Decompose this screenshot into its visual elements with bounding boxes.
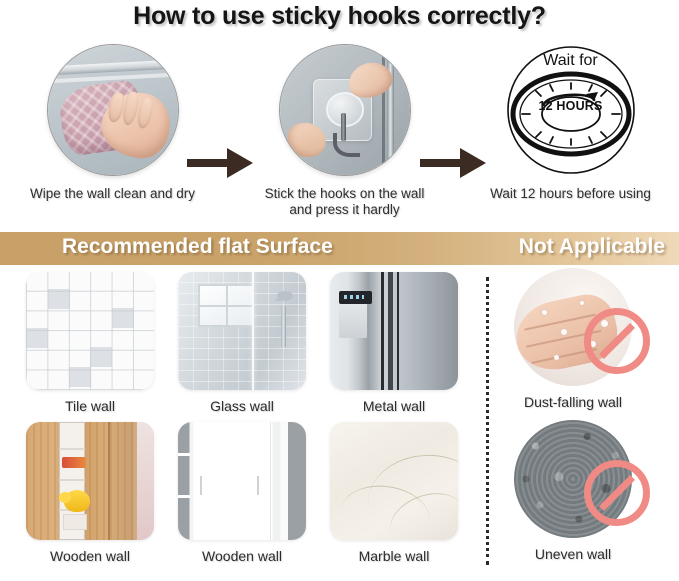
surface-card-metal-wall: Metal wall (324, 272, 464, 414)
step-3-image: Wait for 12 HOURS (498, 44, 644, 176)
wooden-wall-2-label: Wooden wall (172, 548, 312, 564)
step-2-caption: Stick the hooks on the wall and press it… (252, 186, 437, 218)
wooden-wall-1-label: Wooden wall (20, 548, 160, 564)
step-1: Wipe the wall clean and dry (20, 44, 205, 202)
arrow-right-icon-2 (418, 139, 488, 187)
surface-card-glass-wall: Glass wall (172, 272, 312, 414)
section-banner: Recommended flat Surface Not Applicable (0, 232, 679, 265)
prohibition-icon-dust (584, 308, 650, 374)
clock-wait-label: Wait for (498, 52, 644, 70)
metal-wall-image (330, 272, 458, 390)
metal-wall-label: Metal wall (324, 398, 464, 414)
wooden-wall-2-image (178, 422, 306, 540)
steps-row: Wipe the wall clean and dry Stick the ho… (0, 44, 679, 214)
prohibition-icon-uneven (584, 460, 650, 526)
clock-duration-label: 12 HOURS (498, 99, 644, 113)
tile-wall-label: Tile wall (20, 398, 160, 414)
surface-card-uneven-wall: Uneven wall (478, 420, 668, 562)
marble-wall-image (330, 422, 458, 540)
step-2: Stick the hooks on the wall and press it… (252, 44, 437, 218)
surface-card-wooden-wall-2: Wooden wall (172, 422, 312, 564)
banner-not-applicable-label: Not Applicable (519, 235, 665, 259)
step-3-caption: Wait 12 hours before using (478, 186, 663, 202)
surface-card-wooden-wall-1: Wooden wall (20, 422, 160, 564)
marble-wall-label: Marble wall (324, 548, 464, 564)
step-2-caption-line2: and press it hardly (252, 202, 437, 218)
glass-wall-image (178, 272, 306, 390)
step-3: Wait for 12 HOURS Wait 12 hours before u… (478, 44, 663, 202)
surface-card-tile-wall: Tile wall (20, 272, 160, 414)
step-2-caption-line1: Stick the hooks on the wall (252, 186, 437, 202)
glass-wall-label: Glass wall (172, 398, 312, 414)
wooden-wall-1-image (26, 422, 154, 540)
tile-wall-image (26, 272, 154, 390)
surface-card-marble-wall: Marble wall (324, 422, 464, 564)
dust-falling-wall-label: Dust-falling wall (478, 394, 668, 410)
surfaces-grid: Tile wall Glass wall Metal wal (0, 272, 679, 572)
step-1-caption: Wipe the wall clean and dry (20, 186, 205, 202)
arrow-right-icon-1 (185, 139, 255, 187)
surface-card-dust-falling-wall: Dust-falling wall (478, 268, 668, 410)
infographic-page: How to use sticky hooks correctly? Wipe … (0, 0, 679, 581)
step-2-image (279, 44, 411, 176)
uneven-wall-label: Uneven wall (478, 546, 668, 562)
page-title: How to use sticky hooks correctly? (0, 2, 679, 31)
banner-recommended-label: Recommended flat Surface (62, 235, 333, 259)
step-1-image (47, 44, 179, 176)
